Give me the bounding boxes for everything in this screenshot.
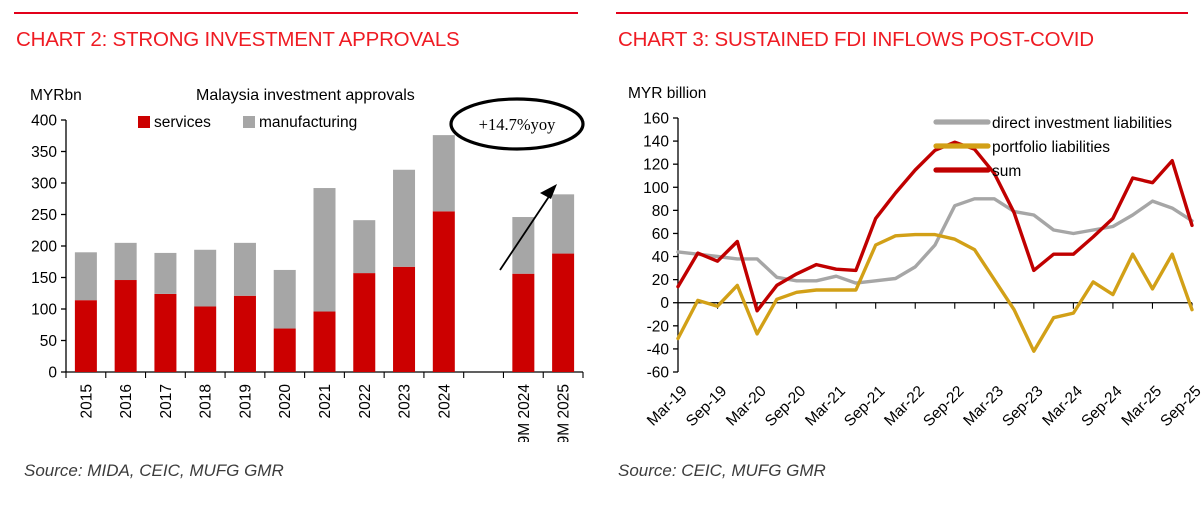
line-legend: direct investment liabilitiesportfolio l…	[936, 115, 1172, 180]
bar-segment-services	[433, 211, 455, 372]
chart-3-plot: MYR billion-60-40-2002040608010012014016…	[606, 72, 1202, 442]
y-axis-tick-label: -60	[647, 365, 670, 382]
y-axis-tick-label: 150	[31, 270, 57, 287]
x-axis-tick-label: Mar-21	[802, 383, 849, 430]
y-axis-tick-label: 0	[660, 295, 669, 312]
y-axis-tick-label: 50	[40, 333, 58, 350]
bar-group	[393, 170, 415, 372]
bar-legend: servicesmanufacturing	[138, 114, 357, 131]
y-axis-tick-label: 200	[31, 239, 57, 256]
x-axis-tick-label: Mar-19	[644, 383, 691, 430]
bar-group	[552, 194, 574, 372]
legend-label-sum: sum	[992, 163, 1021, 180]
panel-top-rule	[616, 12, 1188, 14]
bar-group	[115, 243, 137, 372]
plot-title: Malaysia investment approvals	[196, 87, 415, 104]
x-axis-tick-label: Sep-23	[999, 383, 1046, 430]
bar-group	[234, 243, 256, 372]
bar-group	[274, 270, 296, 372]
bar-group	[75, 252, 97, 372]
line-chart-svg: MYR billion-60-40-2002040608010012014016…	[606, 72, 1202, 442]
y-axis-unit-label: MYRbn	[30, 87, 82, 104]
x-axis-category-label: 2017	[158, 384, 175, 418]
bar-group	[353, 220, 375, 372]
bar-segment-manufacturing	[75, 252, 97, 300]
y-axis-tick-label: 100	[31, 302, 57, 319]
y-axis-tick-label: 100	[643, 180, 669, 197]
bar-segment-manufacturing	[234, 243, 256, 296]
bar-group	[314, 188, 336, 372]
y-axis-tick-label: 160	[643, 111, 669, 128]
bar-segment-services	[274, 329, 296, 372]
x-axis-category-label: 2023	[397, 384, 414, 418]
y-axis-tick-label: 40	[652, 249, 670, 266]
legend-label-services: services	[154, 114, 211, 131]
y-axis-tick-label: 60	[652, 226, 670, 243]
x-axis-category-label: 9M 2025	[556, 384, 573, 442]
y-axis-tick-label: 400	[31, 113, 57, 130]
bar-group	[512, 217, 534, 372]
bar-segment-services	[393, 267, 415, 372]
x-axis-tick-label: Mar-22	[881, 383, 928, 430]
x-axis-category-label: 2018	[198, 384, 215, 418]
x-axis-category-label: 2015	[78, 384, 95, 418]
y-axis-tick-label: 350	[31, 144, 57, 161]
bar-segment-services	[234, 296, 256, 372]
x-axis-tick-label: Mar-20	[723, 382, 770, 429]
y-axis-tick-label: 140	[643, 134, 669, 151]
bar-segment-manufacturing	[115, 243, 137, 280]
bar-segment-manufacturing	[274, 270, 296, 329]
y-axis-tick-label: 300	[31, 176, 57, 193]
bar-segment-manufacturing	[194, 250, 216, 307]
bar-segment-services	[115, 280, 137, 372]
x-axis-tick-label: Sep-24	[1078, 382, 1126, 430]
x-axis-category-label: 2021	[317, 384, 334, 418]
bar-segment-manufacturing	[552, 194, 574, 253]
bar-chart-svg: MYRbnMalaysia investment approvals050100…	[0, 72, 596, 442]
y-axis-unit-label: MYR billion	[628, 85, 706, 102]
legend-label-portfolio-liabilities: portfolio liabilities	[992, 139, 1110, 156]
y-axis-tick-label: 120	[643, 157, 669, 174]
chart-3-source: Source: CEIC, MUFG GMR	[618, 461, 826, 481]
x-axis-category-label: 9M 2024	[516, 384, 533, 442]
legend-label-manufacturing: manufacturing	[259, 114, 357, 131]
bar-segment-manufacturing	[393, 170, 415, 267]
bar-segment-manufacturing	[433, 135, 455, 211]
x-axis-tick-label: Sep-19	[683, 383, 730, 430]
chart-2-panel: CHART 2: STRONG INVESTMENT APPROVALS MYR…	[0, 0, 596, 505]
bar-segment-manufacturing	[154, 253, 176, 294]
x-axis-tick-label: Sep-22	[920, 383, 967, 430]
bar-group	[433, 135, 455, 372]
chart-3-title: CHART 3: SUSTAINED FDI INFLOWS POST-COVI…	[618, 28, 1094, 52]
x-axis-category-label: 2022	[357, 384, 374, 418]
chart-2-plot: MYRbnMalaysia investment approvals050100…	[0, 72, 596, 442]
x-axis-tick-label: Mar-23	[960, 383, 1007, 430]
x-axis-tick-label: Sep-20	[762, 382, 810, 430]
legend-swatch-manufacturing	[243, 116, 255, 128]
y-axis-tick-label: 0	[48, 365, 57, 382]
y-axis-tick-label: -40	[647, 341, 670, 358]
bar-segment-services	[552, 254, 574, 372]
bar-segment-services	[75, 300, 97, 372]
chart-2-source: Source: MIDA, CEIC, MUFG GMR	[24, 461, 284, 481]
chart-2-title: CHART 2: STRONG INVESTMENT APPROVALS	[16, 28, 460, 52]
x-axis-tick-label: Sep-21	[841, 383, 888, 430]
annotation-text: +14.7%yoy	[479, 115, 556, 134]
panel-top-rule	[14, 12, 578, 14]
bar-group	[154, 253, 176, 372]
bar-segment-manufacturing	[314, 188, 336, 311]
bar-segment-services	[314, 312, 336, 372]
x-axis-tick-label: Sep-25	[1157, 383, 1202, 430]
y-axis-tick-label: 250	[31, 207, 57, 224]
y-axis-tick-label: 80	[652, 203, 670, 220]
bar-segment-manufacturing	[353, 220, 375, 273]
bar-segment-services	[353, 273, 375, 372]
legend-label-direct-investment-liabilities: direct investment liabilities	[992, 115, 1172, 132]
bar-group	[194, 250, 216, 372]
two-chart-figure: CHART 2: STRONG INVESTMENT APPROVALS MYR…	[0, 0, 1202, 505]
x-axis-category-label: 2020	[277, 384, 294, 419]
bar-segment-services	[194, 306, 216, 372]
bar-segment-services	[512, 274, 534, 372]
bar-segment-services	[154, 294, 176, 372]
legend-swatch-services	[138, 116, 150, 128]
y-axis-tick-label: 20	[652, 272, 670, 289]
line-series-portfolio-liabilities	[678, 235, 1192, 352]
x-axis-category-label: 2016	[118, 384, 135, 418]
x-axis-category-label: 2019	[237, 384, 254, 418]
y-axis-tick-label: -20	[647, 318, 670, 335]
x-axis-category-label: 2024	[436, 384, 453, 419]
chart-3-panel: CHART 3: SUSTAINED FDI INFLOWS POST-COVI…	[606, 0, 1202, 505]
x-axis-tick-label: Mar-25	[1118, 383, 1165, 430]
x-axis-tick-label: Mar-24	[1039, 382, 1086, 429]
